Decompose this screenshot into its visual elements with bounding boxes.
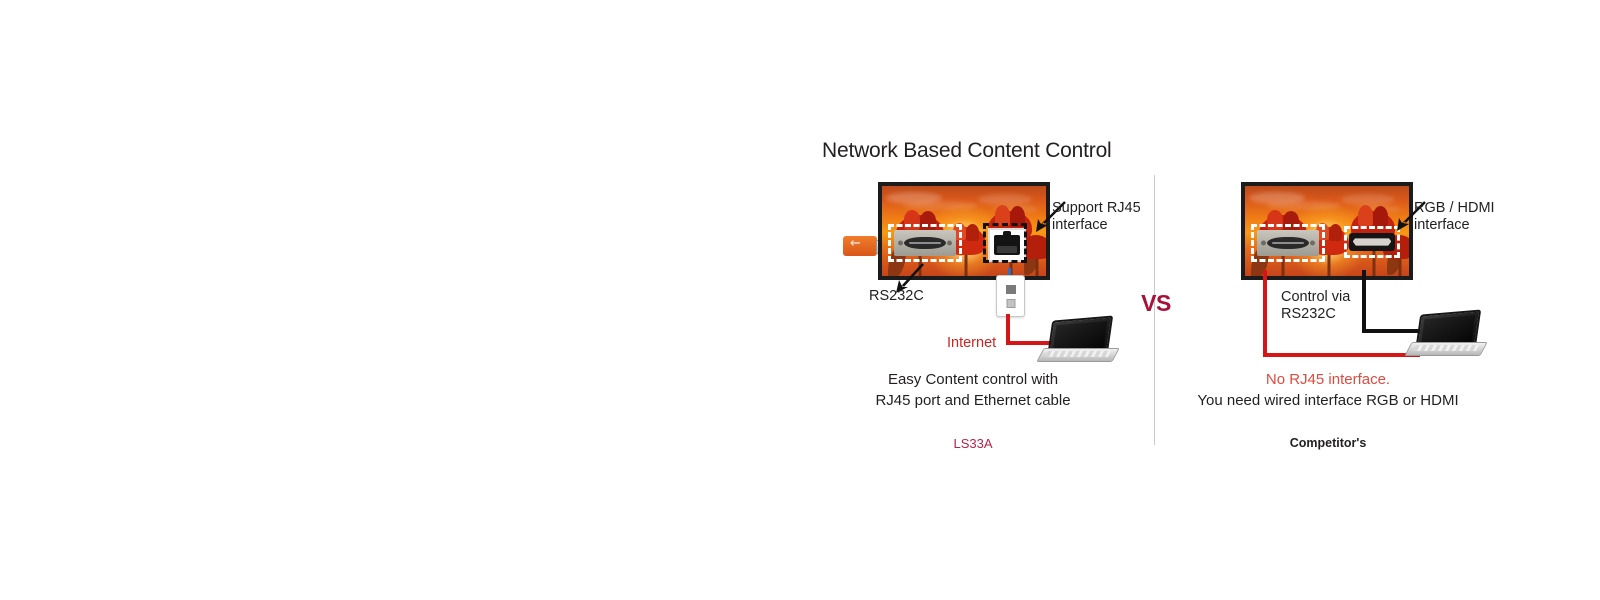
vs-badge: VS	[1134, 290, 1178, 317]
wall-jack-port	[1006, 285, 1016, 294]
callout-control-via-rs232c: Control via RS232C	[1281, 289, 1350, 323]
callout-control-via-rs232c-line2: RS232C	[1281, 306, 1350, 323]
left-caption-line1: Easy Content control with	[828, 369, 1118, 390]
callout-rgb-hdmi-line2: interface	[1414, 217, 1495, 234]
left-caption-line2: RJ45 port and Ethernet cable	[828, 390, 1118, 411]
callout-support-rj45-line1: Support RJ45	[1052, 200, 1141, 217]
right-caption-line1: No RJ45 interface.	[1183, 369, 1473, 390]
comparison-diagram: Network Based Content Control VS	[0, 0, 1600, 600]
right-display-screen	[1245, 186, 1409, 276]
ethernet-wall-jack	[996, 275, 1025, 317]
right-video-cable-vertical	[1362, 270, 1366, 333]
callout-support-rj45: Support RJ45 interface	[1052, 200, 1141, 234]
laptop-keyboard	[1036, 348, 1119, 362]
right-hdmi-highlight	[1344, 226, 1400, 258]
callout-rgb-hdmi-line1: RGB / HDMI	[1414, 200, 1495, 217]
wall-jack-secondary-port	[1006, 299, 1015, 308]
callout-rs232c-left: RS232C	[869, 288, 924, 305]
usb-body	[843, 236, 877, 256]
callout-rgb-hdmi: RGB / HDMI interface	[1414, 200, 1495, 234]
right-laptop-icon	[1408, 312, 1490, 358]
right-rs232c-cable-vertical	[1263, 270, 1267, 357]
left-product-tag: LS33A	[903, 436, 1043, 451]
left-laptop-icon	[1040, 318, 1122, 364]
internet-label: Internet	[947, 335, 996, 351]
laptop-keyboard	[1404, 342, 1487, 356]
callout-support-rj45-line2: interface	[1052, 217, 1141, 234]
left-rs232c-highlight	[888, 224, 962, 262]
left-caption: Easy Content control with RJ45 port and …	[828, 369, 1118, 411]
right-rs232c-cable-horizontal	[1263, 353, 1420, 357]
right-caption-line2: You need wired interface RGB or HDMI	[1183, 390, 1473, 411]
callout-rs232c-left-line1: RS232C	[869, 288, 924, 305]
right-caption: No RJ45 interface. You need wired interf…	[1183, 369, 1473, 411]
callout-control-via-rs232c-line1: Control via	[1281, 289, 1350, 306]
right-product-tag: Competitor's	[1258, 436, 1398, 450]
right-signage-display	[1241, 182, 1413, 280]
right-rs232c-highlight	[1251, 224, 1325, 262]
page-title: Network Based Content Control	[822, 139, 1112, 163]
left-rj45-highlight	[983, 223, 1027, 263]
